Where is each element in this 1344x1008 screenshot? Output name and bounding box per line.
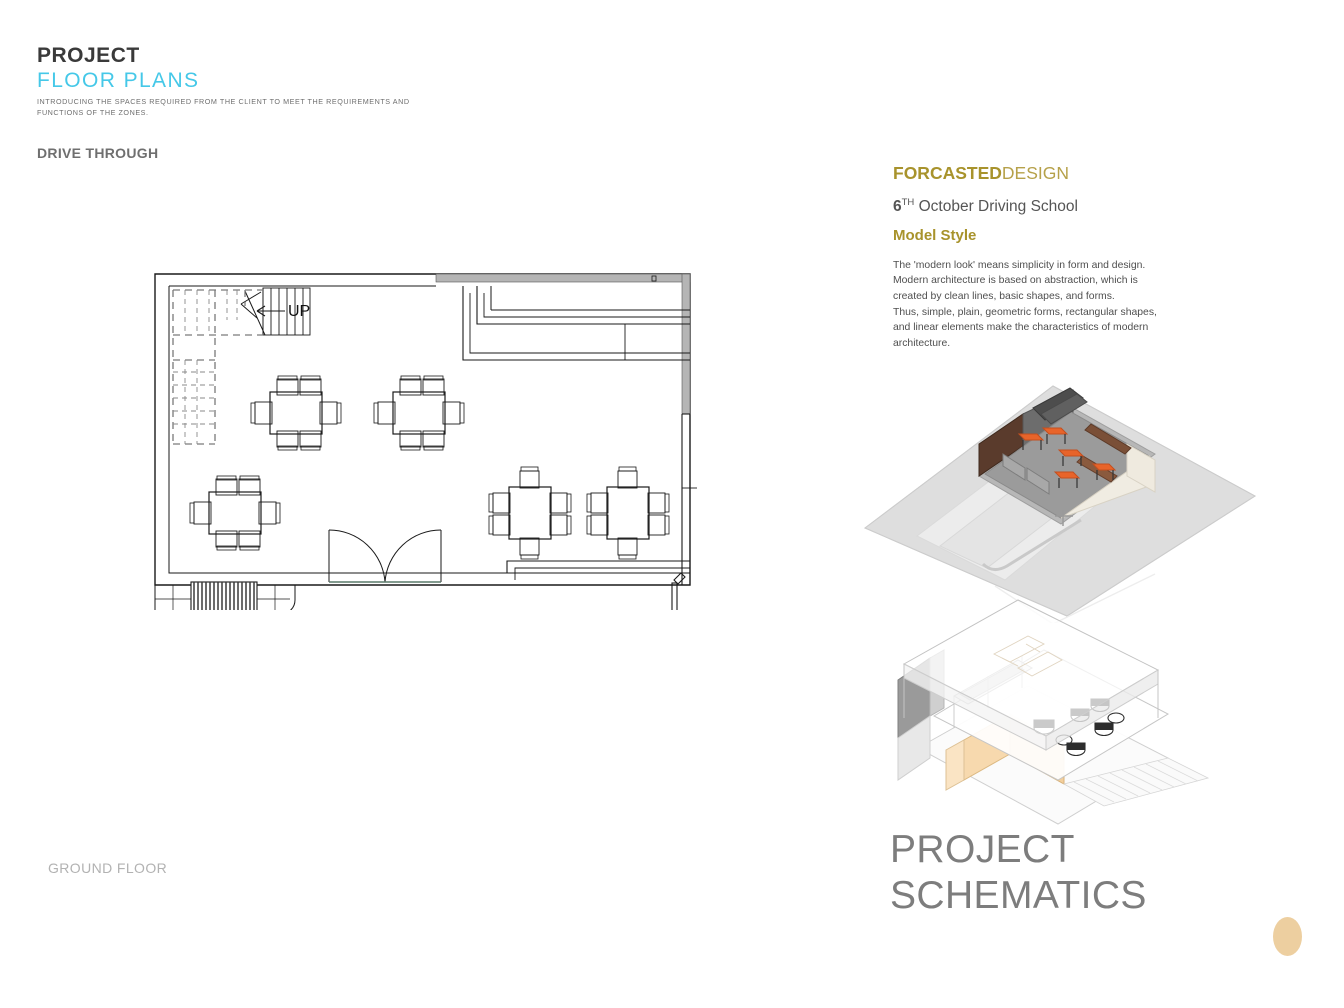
table-group-e	[587, 467, 669, 559]
heading-bold-part: FORCASTED	[893, 163, 1002, 183]
body-line-3: Thus, simple, plain, geometric forms, re…	[893, 305, 1253, 321]
table-group-b	[374, 376, 464, 450]
exploded-axonometric-render	[868, 598, 1223, 853]
stair-up-label: UP	[288, 303, 310, 320]
page-title: PROJECT	[37, 44, 437, 68]
table-group-c	[190, 476, 280, 550]
project-name-text: October Driving School	[919, 198, 1078, 215]
table-group-d	[489, 467, 571, 559]
forecasted-design-heading: FORCASTEDDESIGN	[893, 163, 1253, 184]
table-group-a	[251, 376, 341, 450]
project-ordinal-suffix: TH	[902, 197, 915, 208]
footer-title: PROJECT SCHEMATICS	[890, 827, 1147, 918]
ground-floor-label: GROUND FLOOR	[48, 860, 167, 876]
page-subtitle: FLOOR PLANS	[37, 69, 437, 93]
isometric-site-render	[855, 368, 1265, 623]
body-line-2: created by clean lines, basic shapes, an…	[893, 289, 1253, 305]
accent-oval	[1273, 917, 1302, 956]
body-line-1: Modern architecture is based on abstract…	[893, 273, 1253, 289]
right-info-panel: FORCASTEDDESIGN 6TH October Driving Scho…	[893, 163, 1253, 351]
model-style-body: The 'modern look' means simplicity in fo…	[893, 258, 1253, 352]
body-line-5: architecture.	[893, 336, 1253, 352]
section-label-drive-through: DRIVE THROUGH	[37, 145, 158, 161]
footer-title-line2: SCHEMATICS	[890, 873, 1147, 919]
body-line-0: The 'modern look' means simplicity in fo…	[893, 258, 1253, 274]
footer-title-line1: PROJECT	[890, 828, 1075, 871]
header-description: INTRODUCING THE SPACES REQUIRED FROM THE…	[37, 97, 437, 119]
model-style-heading: Model Style	[893, 227, 1253, 245]
entrance-hatch	[155, 582, 295, 610]
heading-light-part: DESIGN	[1002, 163, 1069, 183]
double-door	[329, 530, 441, 582]
project-number: 6	[893, 198, 902, 215]
project-name-heading: 6TH October Driving School	[893, 197, 1253, 217]
slide-root: PROJECT FLOOR PLANS INTRODUCING THE SPAC…	[0, 0, 1344, 1008]
body-line-4: and linear elements make the characteris…	[893, 320, 1253, 336]
floor-plan-drawing: UP	[145, 260, 715, 610]
header-block: PROJECT FLOOR PLANS INTRODUCING THE SPAC…	[37, 44, 437, 119]
